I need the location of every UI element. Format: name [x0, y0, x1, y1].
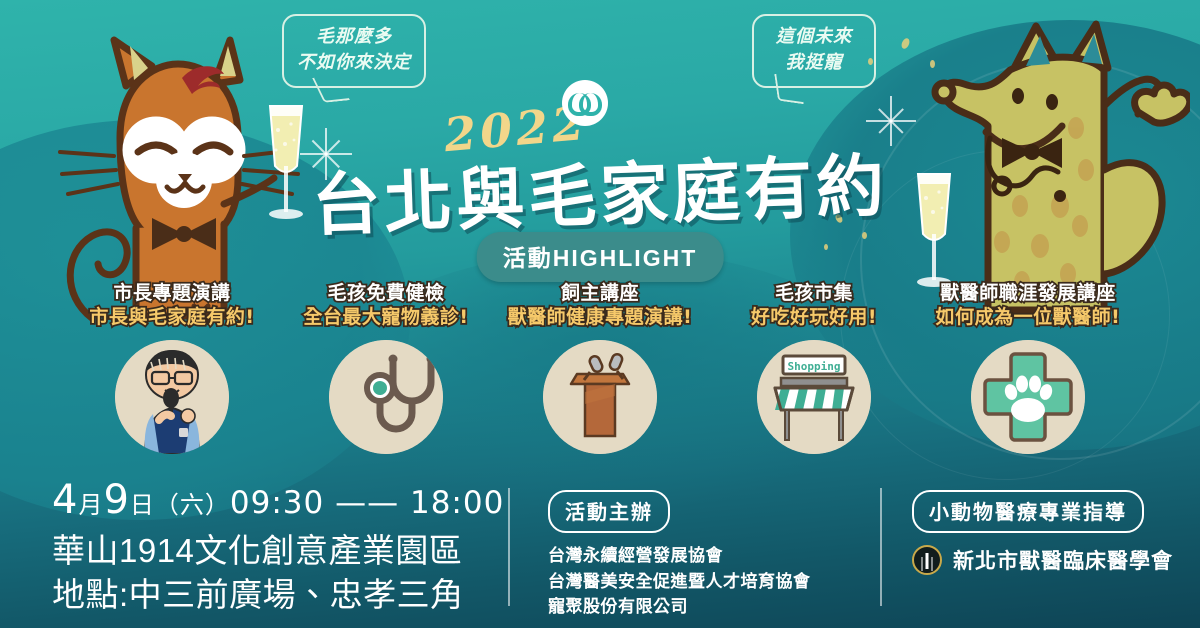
event-venue: 華山1914文化創意產業園區: [52, 529, 504, 574]
market-sign-text: Shopping: [788, 360, 841, 373]
item-subtitle: 獸醫師健康專題演講!: [500, 306, 700, 330]
event-banner: 毛那麼多 不如你來決定 這個未來 我挺寵 2022 台北與毛家庭有約 活動HIG…: [0, 0, 1200, 628]
confetti-dot: [862, 232, 867, 239]
item-title: 毛孩免費健檢: [286, 282, 486, 306]
organizer-section: 活動主辦 台灣永續經營發展協會 台灣醫美安全促進暨人才培育協會 寵聚股份有限公司: [548, 490, 811, 620]
event-month: 4: [52, 477, 78, 523]
bubble-left-line2: 不如你來決定: [296, 50, 412, 76]
bottom-info: 4月9日（六）09:30 —— 18:00 華山1914文化創意產業園區 地點:…: [0, 470, 1200, 628]
highlight-items: 市長專題演講 市長與毛家庭有約!: [0, 282, 1200, 482]
time-dash: ——: [335, 485, 399, 521]
bubble-tail-icon: [774, 74, 804, 104]
organizer-name: 寵聚股份有限公司: [548, 594, 811, 620]
item-subtitle: 好吃好玩好用!: [714, 306, 914, 330]
podium-microphone-icon: [543, 340, 657, 454]
organizer-name: 台灣醫美安全促進暨人才培育協會: [548, 569, 811, 595]
item-title: 毛孩市集: [714, 282, 914, 306]
market-stall-icon: Shopping: [757, 340, 871, 454]
bubble-tail-icon: [312, 75, 350, 103]
event-time-start: 09:30: [230, 485, 324, 521]
item-title: 市長專題演講: [72, 282, 272, 306]
confetti-dot: [900, 37, 911, 50]
item-title: 獸醫師職涯發展講座: [928, 282, 1128, 306]
section-divider: [508, 488, 510, 606]
section-divider: [880, 488, 882, 606]
event-day-unit: 日: [130, 491, 155, 519]
event-month-unit: 月: [78, 491, 103, 519]
event-datetime: 4月9日（六）09:30 —— 18:00: [52, 472, 504, 529]
organizer-name: 台灣永續經營發展協會: [548, 543, 811, 569]
organizer-list: 台灣永續經營發展協會 台灣醫美安全促進暨人才培育協會 寵聚股份有限公司: [548, 543, 811, 620]
item-title: 飼主講座: [500, 282, 700, 306]
mayor-portrait-icon: [115, 340, 229, 454]
stethoscope-icon: [329, 340, 443, 454]
advisor-label: 小動物醫療專業指導: [912, 490, 1144, 533]
highlight-item-owner-lecture[interactable]: 飼主講座 獸醫師健康專題演講!: [500, 282, 700, 482]
advisor-name: 新北市獸醫臨床醫學會: [953, 545, 1173, 575]
bubble-left-line1: 毛那麼多: [296, 24, 412, 50]
highlight-badge: 活動HIGHLIGHT: [477, 232, 724, 282]
event-time-end: 18:00: [410, 485, 504, 521]
item-subtitle: 市長與毛家庭有約!: [72, 306, 272, 330]
speech-bubble-left: 毛那麼多 不如你來決定: [282, 14, 426, 88]
item-subtitle: 全台最大寵物義診!: [286, 306, 486, 330]
advisor-org: 新北市獸醫臨床醫學會: [912, 545, 1173, 575]
advisor-section: 小動物醫療專業指導 新北市獸醫臨床醫學會: [912, 490, 1173, 575]
veterinary-seal-icon: [912, 545, 942, 575]
event-weekday: （六）: [155, 491, 230, 519]
bubble-right-line2: 我挺寵: [766, 50, 862, 76]
bubble-right-line1: 這個未來: [766, 24, 862, 50]
confetti-dot: [824, 244, 828, 250]
highlight-item-vet-career[interactable]: 獸醫師職涯發展講座 如何成為一位獸醫師!: [928, 282, 1128, 482]
item-subtitle: 如何成為一位獸醫師!: [928, 306, 1128, 330]
paw-logo-icon: [562, 80, 608, 126]
highlight-item-mayor-talk[interactable]: 市長專題演講 市長與毛家庭有約!: [72, 282, 272, 482]
organizer-label: 活動主辦: [548, 490, 670, 533]
highlight-item-free-checkup[interactable]: 毛孩免費健檢 全台最大寵物義診!: [286, 282, 486, 482]
highlight-item-market[interactable]: 毛孩市集 好吃好玩好用! Shopping: [714, 282, 914, 482]
event-day: 9: [103, 477, 129, 523]
speech-bubble-right: 這個未來 我挺寵: [752, 14, 876, 88]
event-location: 地點:中三前廣場、忠孝三角: [52, 573, 504, 618]
event-details: 4月9日（六）09:30 —— 18:00 華山1914文化創意產業園區 地點:…: [52, 472, 504, 618]
paw-cross-icon: [971, 340, 1085, 454]
confetti-dot: [930, 60, 935, 68]
